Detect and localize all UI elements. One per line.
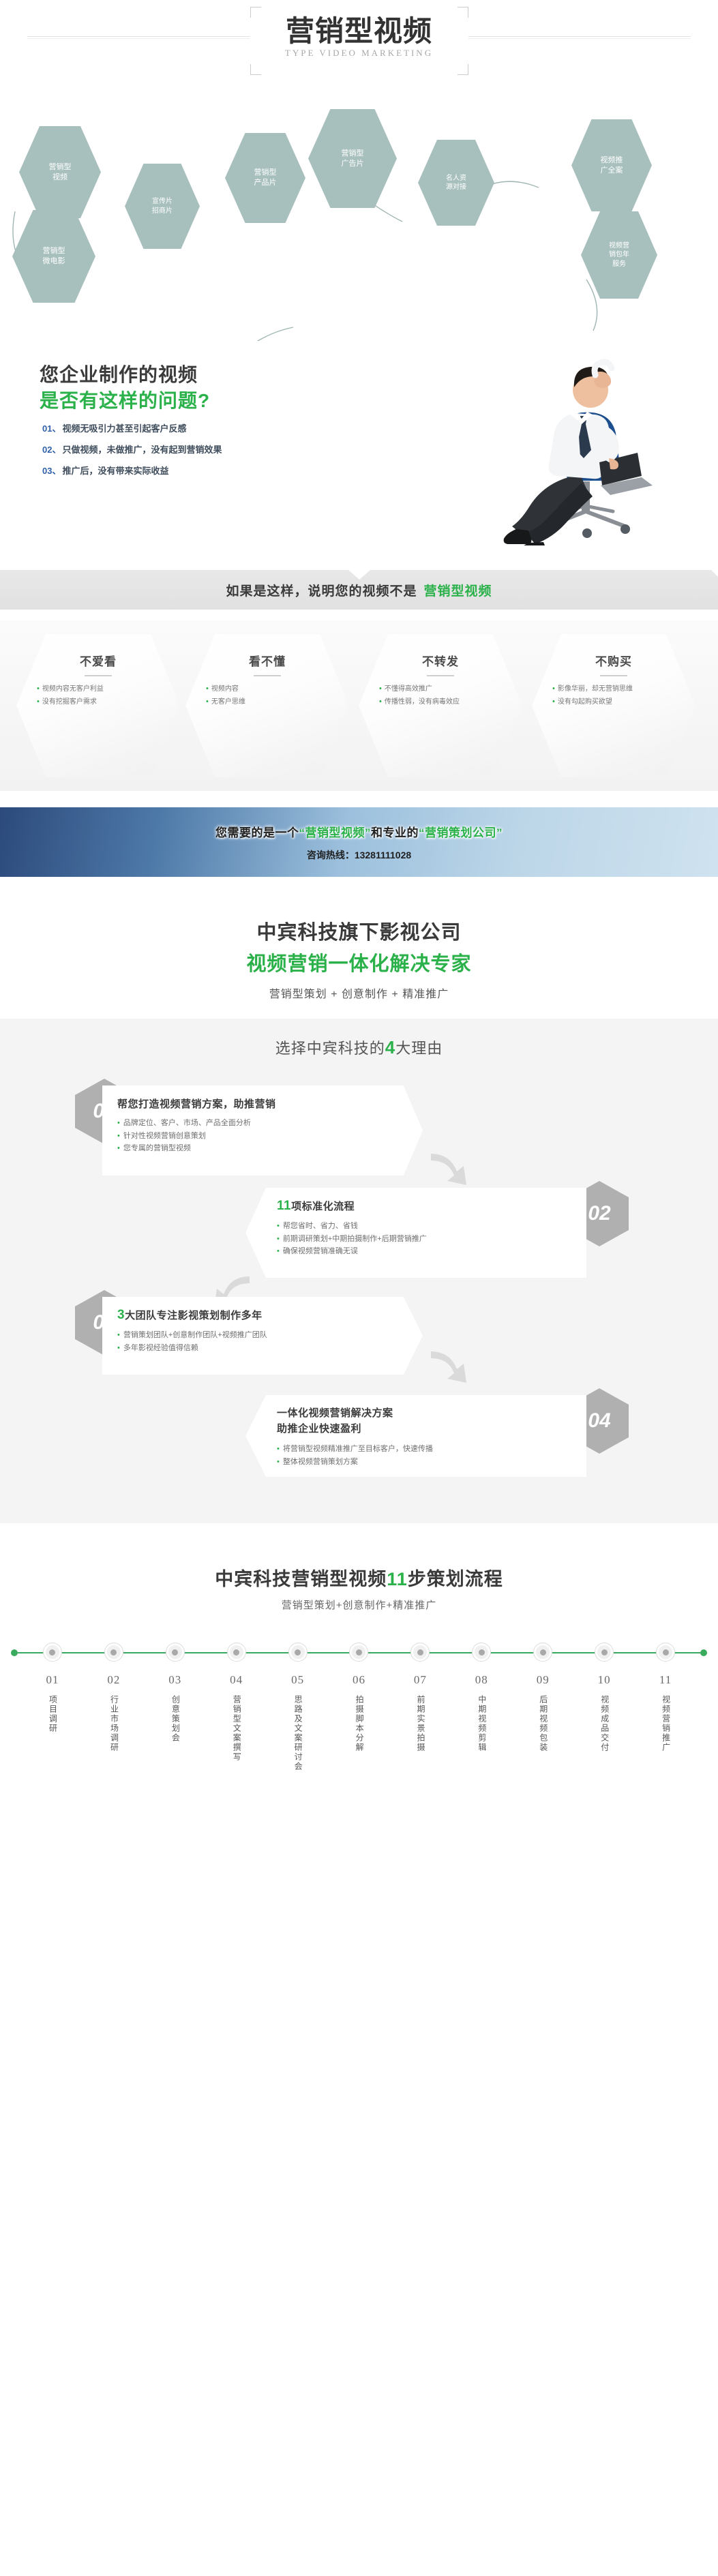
step-number: 02 (83, 1673, 145, 1687)
corner-top-right-icon (458, 7, 468, 18)
problem-list: 01、 视频无吸引力甚至引起客户反感 02、 只做视频，未做推广，没有起到营销效… (42, 421, 222, 485)
list-item: •没有勾起购买欲望 (552, 697, 675, 708)
company-line-2: 视频营销一体化解决专家 (0, 948, 718, 976)
problem-card-point: 视频内容 (211, 684, 239, 695)
reason-card-title: 一体化视频营销解决方案 助推企业快速盈利 (277, 1406, 571, 1437)
bullet-icon: • (117, 1117, 120, 1130)
company-line-1: 中宾科技旗下影视公司 (0, 916, 718, 945)
cta-text-b: 和专业的 (371, 826, 419, 839)
bullet-icon: • (277, 1220, 280, 1233)
hex-label: 名人资 源对接 (442, 174, 470, 192)
list-item: •前期调研策划+中期拍摄制作+后期营销推广 (277, 1233, 571, 1246)
timeline-node[interactable] (451, 1643, 512, 1661)
reasons-section: 选择中宾科技的4大理由 01 帮您打造视频营销方案，助推营销 •品牌定位、客户、… (0, 1019, 718, 1523)
problem-card-point: 没有挖掘客户需求 (42, 697, 97, 708)
corner-bottom-right-icon (458, 64, 468, 75)
bullet-icon: • (552, 684, 555, 694)
hex-micro-movie[interactable]: 营销型 微电影 (12, 210, 95, 303)
cta-headline: 您需要的是一个“营销型视频”和专业的“营销策划公司” (215, 823, 503, 840)
problem-card-title: 不转发 (379, 652, 502, 669)
step-column-3[interactable]: 03 创意策划会 (145, 1673, 206, 1775)
reason-card-03[interactable]: 3大团队专注影视策划制作多年 •营销策划团队+创意制作团队+视频推广团队 •多年… (102, 1297, 423, 1375)
company-headline-section: 中宾科技旗下影视公司 视频营销一体化解决专家 营销型策划 + 创意制作 + 精准… (0, 893, 718, 1019)
list-item: •营销策划团队+创意制作团队+视频推广团队 (117, 1329, 408, 1342)
timeline-node[interactable] (573, 1643, 635, 1661)
hex-annual-service[interactable]: 视频营 销包年 服务 (581, 211, 657, 299)
problem-card-title: 不购买 (552, 652, 675, 669)
list-item: •确保视频营销准确无误 (277, 1245, 571, 1258)
hex-marketing-video[interactable]: 营销型 视频 (19, 126, 101, 218)
problem-card-title: 不爱看 (37, 652, 160, 669)
list-item: 02、 只做视频，未做推广，没有起到营销效果 (42, 443, 222, 455)
reason-point: 帮您省时、省力、省钱 (283, 1220, 358, 1233)
timeline-node[interactable] (329, 1643, 390, 1661)
reason-card-title-number: 3 (117, 1308, 125, 1322)
problem-card-point: 传播性弱，没有病毒效应 (385, 697, 460, 708)
reason-point: 整体视频营销策划方案 (283, 1456, 358, 1469)
list-item: •多年影视经验值得信赖 (117, 1342, 408, 1355)
reason-card-02[interactable]: 11项标准化流程 •帮您省时、省力、省钱 •前期调研策划+中期拍摄制作+后期营销… (245, 1188, 586, 1278)
list-item: •视频内容无客户利益 (37, 684, 160, 695)
bullet-icon: • (117, 1130, 120, 1143)
bullet-icon: • (277, 1443, 280, 1456)
list-item: •将营销型视频精准推广至目标客户，快速传播 (277, 1443, 571, 1456)
reason-number: 04 (588, 1409, 610, 1433)
corner-bottom-left-icon (250, 64, 261, 75)
banner-text-plain: 如果是这样，说明您的视频不是 (226, 584, 417, 599)
cta-section: 您需要的是一个“营销型视频”和专业的“营销策划公司” 咨询热线：13281111… (0, 791, 718, 893)
steps-section: 中宾科技营销型视频11步策划流程 营销型策划+创意制作+精准推广 01 (0, 1537, 718, 1795)
divider (254, 675, 281, 676)
bullet-icon: • (277, 1233, 280, 1246)
reason-card-title-text: 项标准化流程 (291, 1201, 355, 1212)
timeline-node[interactable] (635, 1643, 696, 1661)
divider (85, 675, 112, 676)
problem-text: 只做视频，未做推广，没有起到营销效果 (62, 443, 222, 455)
reason-point: 将营销型视频精准推广至目标客户，快速传播 (283, 1443, 433, 1456)
list-item: 01、 视频无吸引力甚至引起客户反感 (42, 421, 222, 434)
businessman-illustration (479, 348, 698, 545)
divider (600, 675, 627, 676)
problem-heading-line1: 您企业制作的视频 (40, 360, 198, 387)
page-header: 营销型视频 TYPE VIDEO MARKETING (0, 0, 718, 89)
conclusion-banner: 如果是这样，说明您的视频不是营销型视频 (0, 559, 718, 620)
steps-title: 中宾科技营销型视频11步策划流程 (0, 1564, 718, 1591)
cta-hotline[interactable]: 咨询热线：13281111028 (307, 848, 411, 862)
four-problems-section: 不爱看 •视频内容无客户利益 •没有挖掘客户需求 看不懂 •视频内容 •无客户思… (0, 620, 718, 791)
reasons-title-number: 4 (385, 1037, 395, 1058)
bullet-icon: • (277, 1245, 280, 1258)
problem-card-point: 视频内容无客户利益 (42, 684, 104, 695)
header-title-box: 营销型视频 TYPE VIDEO MARKETING (250, 7, 468, 75)
hex-promo-film[interactable]: 宣传片 招商片 (125, 164, 200, 249)
reason-point: 您专属的营销型视频 (123, 1142, 191, 1155)
step-number: 07 (389, 1673, 451, 1687)
step-number: 01 (22, 1673, 83, 1687)
problem-section: 您企业制作的视频 是否有这样的问题? 01、 视频无吸引力甚至引起客户反感 02… (0, 341, 718, 559)
corner-top-left-icon (250, 7, 261, 18)
steps-subtitle: 营销型策划+创意制作+精准推广 (0, 1598, 718, 1612)
bullet-icon: • (37, 684, 40, 694)
problem-text: 视频无吸引力甚至引起客户反感 (62, 421, 186, 434)
reason-point: 前期调研策划+中期拍摄制作+后期营销推广 (283, 1233, 427, 1246)
problem-number: 03、 (42, 464, 61, 477)
step-number: 06 (329, 1673, 390, 1687)
bullet-icon: • (117, 1329, 120, 1342)
banner-text-highlight: 营销型视频 (424, 584, 492, 599)
hex-celebrity[interactable]: 名人资 源对接 (418, 140, 494, 226)
step-label: 视频营销推广 (659, 1695, 672, 1752)
timeline-node[interactable] (206, 1643, 267, 1661)
landing-page: 营销型视频 TYPE VIDEO MARKETING 营销型 视频 (0, 0, 718, 1795)
step-number: 08 (451, 1673, 512, 1687)
cta-highlight-2: “营销策划公司” (419, 826, 503, 839)
bullet-icon: • (117, 1342, 120, 1355)
divider (427, 675, 454, 676)
step-label: 创意策划会 (168, 1695, 181, 1743)
list-item: •整体视频营销策划方案 (277, 1456, 571, 1469)
bullet-icon: • (379, 684, 382, 694)
step-label: 视频成品交付 (598, 1695, 611, 1752)
problem-card-point: 影像华丽，却无营销思维 (558, 684, 633, 695)
steps-title-number: 11 (387, 1569, 408, 1589)
problem-text: 推广后，没有带来实际收益 (62, 464, 168, 477)
reason-card-title: 11项标准化流程 (277, 1199, 571, 1214)
reasons-title: 选择中宾科技的4大理由 (0, 1036, 718, 1058)
reason-number: 02 (588, 1202, 610, 1225)
bullet-icon: • (117, 1142, 120, 1155)
company-line-3: 营销型策划 + 创意制作 + 精准推广 (0, 985, 718, 1001)
list-item: 03、 推广后，没有带来实际收益 (42, 464, 222, 477)
timeline-node[interactable] (22, 1643, 83, 1661)
step-label: 行业市场调研 (107, 1695, 120, 1752)
reason-point: 确保视频营销准确无误 (283, 1245, 358, 1258)
reason-card-title-number: 11 (277, 1199, 291, 1213)
hex-product-film[interactable]: 营销型 产品片 (225, 133, 305, 223)
bullet-icon: • (37, 697, 40, 707)
problem-card-point: 没有勾起购买欲望 (558, 697, 612, 708)
reason-card-01[interactable]: 帮您打造视频营销方案，助推营销 •品牌定位、客户、市场、产品全面分析 •针对性视… (102, 1085, 423, 1175)
step-column-10[interactable]: 10 视频成品交付 (573, 1673, 635, 1775)
cta-text-a: 您需要的是一个 (215, 826, 299, 839)
step-label: 项目调研 (46, 1695, 59, 1733)
problem-card-3[interactable]: 不转发 •不懂得高效推广 •传播性弱，没有病毒效应 (359, 634, 522, 777)
problem-card-point: 不懂得高效推广 (385, 684, 432, 695)
flow-arrow-down-right-icon (428, 1148, 476, 1189)
step-column-7[interactable]: 07 前期实景拍摄 (389, 1673, 451, 1775)
bullet-icon: • (379, 697, 382, 707)
problem-heading-line2: 是否有这样的问题? (40, 386, 210, 413)
step-column-5[interactable]: 05 思路及文案研讨会 (267, 1673, 329, 1775)
step-label: 拍摄脚本分解 (353, 1695, 365, 1752)
hotline-label: 咨询热线： (307, 850, 355, 860)
step-number: 10 (573, 1673, 635, 1687)
reason-card-04[interactable]: 一体化视频营销解决方案 助推企业快速盈利 •将营销型视频精准推广至目标客户，快速… (245, 1395, 586, 1477)
hex-label: 视频营 销包年 服务 (605, 241, 633, 269)
step-column-1[interactable]: 01 项目调研 (22, 1673, 83, 1775)
hex-label: 视频推 广全案 (597, 155, 627, 176)
steps-title-b: 步策划流程 (408, 1569, 503, 1589)
list-item: •视频内容 (206, 684, 329, 695)
problem-card-2[interactable]: 看不懂 •视频内容 •无客户思维 (185, 634, 349, 777)
bullet-icon: • (206, 697, 209, 707)
banner-bar: 如果是这样，说明您的视频不是营销型视频 (0, 570, 718, 610)
hex-promotion-plan[interactable]: 视频推 广全案 (571, 119, 652, 211)
step-column-11[interactable]: 11 视频营销推广 (635, 1673, 696, 1775)
flow-arrow-down-right-icon-2 (428, 1346, 476, 1387)
timeline-node[interactable] (83, 1643, 145, 1661)
list-item: •无客户思维 (206, 697, 329, 708)
step-number: 11 (635, 1673, 696, 1687)
reason-point: 品牌定位、客户、市场、产品全面分析 (123, 1117, 251, 1130)
section-spacer (0, 1523, 718, 1537)
list-item: •品牌定位、客户、市场、产品全面分析 (117, 1117, 408, 1130)
reason-point: 多年影视经验值得信赖 (123, 1342, 198, 1355)
step-column-8[interactable]: 08 中期视频剪辑 (451, 1673, 512, 1775)
hex-label: 宣传片 招商片 (148, 197, 177, 215)
step-label: 后期视频包装 (537, 1695, 550, 1752)
step-number: 05 (267, 1673, 329, 1687)
reason-point: 针对性视频营销创意策划 (123, 1130, 206, 1143)
page-subtitle: TYPE VIDEO MARKETING (250, 48, 468, 59)
reasons-title-a: 选择中宾科技的 (275, 1040, 385, 1057)
steps-columns: 01 项目调研 02 行业市场调研 03 创意策划会 04 营销型文案撰写 05… (0, 1673, 718, 1775)
steps-title-a: 中宾科技营销型视频 (215, 1569, 387, 1589)
timeline-node[interactable] (267, 1643, 329, 1661)
bullet-icon: • (552, 697, 555, 707)
reason-card-title: 3大团队专注影视策划制作多年 (117, 1308, 408, 1323)
hotline-number: 13281111028 (355, 850, 411, 860)
problem-number: 02、 (42, 443, 61, 455)
services-hex-grid: 营销型 视频 宣传片 招商片 营销型 产品片 营销型 广告片 名人资 源对接 视… (0, 89, 718, 341)
timeline-node[interactable] (145, 1643, 206, 1661)
list-item: •您专属的营销型视频 (117, 1142, 408, 1155)
step-label: 前期实景拍摄 (414, 1695, 427, 1752)
timeline-nodes (0, 1643, 718, 1661)
bullet-icon: • (277, 1456, 280, 1469)
hex-label: 营销型 产品片 (250, 168, 281, 188)
step-number: 09 (512, 1673, 573, 1687)
banner-text: 如果是这样，说明您的视频不是营销型视频 (226, 581, 492, 599)
hex-label: 营销型 广告片 (338, 149, 368, 169)
problem-number: 01、 (42, 421, 61, 434)
list-item: •没有挖掘客户需求 (37, 697, 160, 708)
problem-card-title: 看不懂 (206, 652, 329, 669)
step-label: 中期视频剪辑 (475, 1695, 488, 1752)
step-number: 04 (206, 1673, 267, 1687)
list-item: •针对性视频营销创意策划 (117, 1130, 408, 1143)
reasons-title-b: 大理由 (395, 1040, 443, 1057)
step-column-9[interactable]: 09 后期视频包装 (512, 1673, 573, 1775)
list-item: •传播性弱，没有病毒效应 (379, 697, 502, 708)
problem-card-4[interactable]: 不购买 •影像华丽，却无营销思维 •没有勾起购买欲望 (532, 634, 695, 777)
steps-timeline-track (0, 1643, 718, 1664)
step-label: 营销型文案撰写 (230, 1695, 243, 1762)
list-item: •不懂得高效推广 (379, 684, 502, 695)
cta-banner: 您需要的是一个“营销型视频”和专业的“营销策划公司” 咨询热线：13281111… (0, 807, 718, 877)
reason-card-title: 帮您打造视频营销方案，助推营销 (117, 1096, 408, 1111)
list-item: •影像华丽，却无营销思维 (552, 684, 675, 695)
list-item: •帮您省时、省力、省钱 (277, 1220, 571, 1233)
bullet-icon: • (206, 684, 209, 694)
timeline-node[interactable] (389, 1643, 451, 1661)
step-column-2[interactable]: 02 行业市场调研 (83, 1673, 145, 1775)
page-title: 营销型视频 (250, 7, 468, 46)
step-column-4[interactable]: 04 营销型文案撰写 (206, 1673, 267, 1775)
problem-card-point: 无客户思维 (211, 697, 245, 708)
step-column-6[interactable]: 06 拍摄脚本分解 (329, 1673, 390, 1775)
hex-label: 营销型 微电影 (39, 246, 70, 267)
cta-highlight-1: “营销型视频” (299, 826, 372, 839)
timeline-node[interactable] (512, 1643, 573, 1661)
step-number: 03 (145, 1673, 206, 1687)
step-label: 思路及文案研讨会 (291, 1695, 304, 1771)
reason-point: 营销策划团队+创意制作团队+视频推广团队 (123, 1329, 267, 1342)
hex-label: 营销型 视频 (45, 162, 76, 183)
hex-ad-film[interactable]: 营销型 广告片 (308, 109, 397, 208)
reason-card-title-text: 大团队专注影视策划制作多年 (125, 1310, 263, 1321)
reasons-cards: 01 帮您打造视频营销方案，助推营销 •品牌定位、客户、市场、产品全面分析 •针… (0, 1073, 718, 1496)
problem-card-1[interactable]: 不爱看 •视频内容无客户利益 •没有挖掘客户需求 (16, 634, 180, 777)
